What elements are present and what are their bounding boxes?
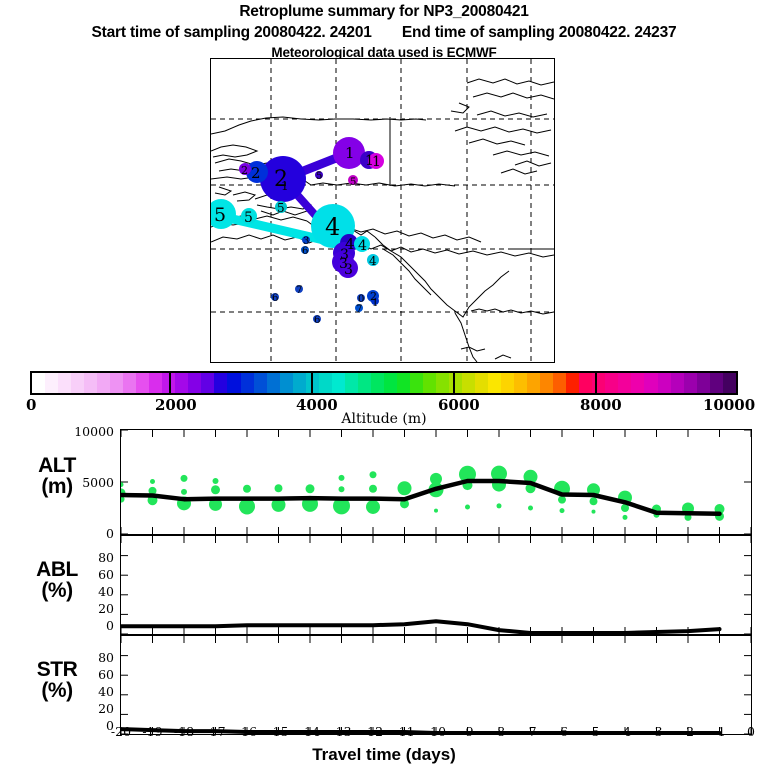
colorbar-swatch: [462, 373, 475, 393]
x-tick--14: -14: [293, 724, 327, 739]
end-time-label: End time of sampling 20080422. 24237: [402, 24, 677, 41]
x-tick--18: -18: [167, 724, 201, 739]
map-political-borders: [390, 117, 554, 249]
str-ytick-80: 80: [58, 650, 114, 665]
colorbar-swatch: [332, 373, 345, 393]
scatter-point: [528, 506, 533, 511]
colorbar-swatch: [384, 373, 397, 393]
x-tick--4: -4: [608, 724, 642, 739]
colorbar-swatch: [566, 373, 579, 393]
x-axis-title: Travel time (days): [0, 745, 768, 765]
svg-text:2: 2: [251, 164, 261, 182]
x-tick--13: -13: [325, 724, 359, 739]
colorbar-swatch: [58, 373, 71, 393]
colorbar-swatch: [410, 373, 423, 393]
x-tick--5: -5: [577, 724, 611, 739]
svg-text:6: 6: [302, 246, 308, 257]
svg-text:1: 1: [372, 154, 381, 170]
svg-text:1: 1: [345, 144, 355, 162]
colorbar-divider: [311, 371, 313, 395]
colorbar-swatch: [84, 373, 97, 393]
x-tick-marks: [121, 636, 751, 734]
page-title: Retroplume summary for NP3_20080421: [0, 3, 768, 21]
x-tick--2: -2: [671, 724, 705, 739]
colorbar-swatch: [188, 373, 201, 393]
colorbar-swatch: [579, 373, 592, 393]
colorbar-swatch: [71, 373, 84, 393]
svg-text:1: 1: [281, 179, 289, 193]
svg-text:4: 4: [325, 213, 340, 241]
scatter-point: [150, 479, 155, 484]
x-tick--1: -1: [703, 724, 737, 739]
altitude-colorbar[interactable]: [30, 371, 738, 395]
colorbar-swatch: [319, 373, 332, 393]
colorbar-swatch: [267, 373, 280, 393]
colorbar-swatch: [175, 373, 188, 393]
abl-ytick-60: 60: [58, 567, 114, 582]
colorbar-swatch: [45, 373, 58, 393]
svg-text:5: 5: [277, 201, 285, 215]
colorbar-swatch: [293, 373, 306, 393]
scatter-point: [370, 471, 377, 478]
scatter-point: [558, 496, 566, 504]
svg-text:5: 5: [244, 210, 253, 226]
colorbar-swatch: [254, 373, 267, 393]
str-panel[interactable]: [120, 635, 752, 735]
colorbar-axis-label: Altitude (m): [0, 411, 768, 427]
colorbar-swatch: [201, 373, 214, 393]
colorbar-swatch: [684, 373, 697, 393]
x-tick--12: -12: [356, 724, 390, 739]
y-tick-marks: [121, 656, 751, 734]
colorbar-swatch: [671, 373, 684, 393]
abl-panel[interactable]: [120, 535, 752, 635]
colorbar-swatch: [658, 373, 671, 393]
svg-text:6: 6: [272, 293, 278, 304]
colorbar-swatch: [605, 373, 618, 393]
colorbar-swatch: [136, 373, 149, 393]
svg-text:7: 7: [356, 304, 362, 315]
colorbar-swatch: [697, 373, 710, 393]
x-tick--17: -17: [199, 724, 233, 739]
x-tick-marks: [121, 536, 751, 634]
scatter-point: [434, 509, 438, 513]
scatter-point: [211, 485, 220, 494]
alt-panel[interactable]: [120, 429, 752, 535]
scatter-point: [398, 481, 412, 495]
scatter-point: [181, 475, 188, 482]
start-time-label: Start time of sampling 20080422. 24201: [92, 24, 372, 41]
x-tick-0: 0: [734, 724, 768, 739]
scatter-point: [369, 485, 377, 493]
abl-ytick-40: 40: [58, 584, 114, 599]
colorbar-swatch: [423, 373, 436, 393]
colorbar-swatch: [227, 373, 240, 393]
colorbar-swatch: [501, 373, 514, 393]
alt-ytick-0: 0: [58, 526, 114, 541]
colorbar-swatch: [345, 373, 358, 393]
colorbar-swatch: [553, 373, 566, 393]
colorbar-swatch: [540, 373, 553, 393]
abl-ytick-0: 0: [58, 618, 114, 633]
colorbar-swatch: [358, 373, 371, 393]
x-tick--20: -20: [104, 724, 138, 739]
x-tick--6: -6: [545, 724, 579, 739]
colorbar-swatch: [723, 373, 736, 393]
map-canvas: 1 1 1 2 2 2 1 5 5 5 4 4 4 3 3 3 4 3 6 7 …: [211, 59, 554, 362]
str-plot: [121, 636, 751, 734]
map-coastlines: [211, 79, 554, 362]
x-tick--3: -3: [640, 724, 674, 739]
colorbar-swatch: [449, 373, 462, 393]
svg-text:5: 5: [350, 177, 356, 188]
svg-text:7: 7: [296, 285, 302, 296]
alt-plot: [121, 430, 751, 534]
x-tick--8: -8: [482, 724, 516, 739]
scatter-point: [623, 515, 628, 520]
x-tick--15: -15: [262, 724, 296, 739]
colorbar-swatch: [149, 373, 162, 393]
colorbar-swatch: [371, 373, 384, 393]
colorbar-swatch: [488, 373, 501, 393]
scatter-point: [275, 484, 283, 492]
colorbar-divider: [453, 371, 455, 395]
colorbar-swatch: [527, 373, 540, 393]
colorbar-swatch: [32, 373, 45, 393]
colorbar-swatch: [110, 373, 123, 393]
colorbar-swatch: [618, 373, 631, 393]
abl-ytick-20: 20: [58, 601, 114, 616]
scatter-point: [560, 508, 565, 513]
x-axis-tick-labels: -20-19-18-17-16-15-14-13-12-11-10-9-8-7-…: [0, 724, 768, 742]
colorbar-divider: [169, 371, 171, 395]
abl-plot: [121, 536, 751, 634]
x-tick--10: -10: [419, 724, 453, 739]
colorbar-swatch: [214, 373, 227, 393]
svg-text:3: 3: [344, 262, 353, 278]
colorbar-swatch: [280, 373, 293, 393]
retroplume-map[interactable]: 1 1 1 2 2 2 1 5 5 5 4 4 4 3 3 3 4 3 6 7 …: [210, 58, 555, 363]
colorbar-swatch: [241, 373, 254, 393]
alt-ytick-10000: 10000: [58, 424, 114, 439]
colorbar-swatch: [475, 373, 488, 393]
scatter-point: [213, 478, 219, 484]
colorbar-swatch: [123, 373, 136, 393]
colorbar-gradient: [30, 371, 738, 395]
colorbar-swatch: [644, 373, 657, 393]
colorbar-swatch: [436, 373, 449, 393]
scatter-point: [339, 486, 345, 492]
scatter-point: [465, 504, 470, 509]
colorbar-swatch: [397, 373, 410, 393]
colorbar-divider: [595, 371, 597, 395]
svg-text:5: 5: [214, 204, 226, 226]
colorbar-swatch: [97, 373, 110, 393]
scatter-point: [590, 497, 598, 505]
svg-text:5: 5: [316, 171, 322, 182]
colorbar-swatch: [631, 373, 644, 393]
str-ytick-40: 40: [58, 684, 114, 699]
x-tick--19: -19: [136, 724, 170, 739]
sampling-time-line: Start time of sampling 20080422. 24201 E…: [0, 24, 768, 42]
abl-ytick-80: 80: [58, 550, 114, 565]
svg-text:6: 6: [314, 315, 320, 326]
scatter-point: [592, 510, 596, 514]
scatter-point: [366, 500, 380, 514]
x-tick--16: -16: [230, 724, 264, 739]
scatter-point: [181, 489, 187, 495]
scatter-point: [243, 485, 251, 493]
x-tick--11: -11: [388, 724, 422, 739]
svg-text:1: 1: [372, 298, 378, 309]
alt-axis-title-line1: ALT: [4, 455, 110, 476]
svg-text:4: 4: [358, 238, 367, 254]
scatter-point: [121, 482, 124, 487]
scatter-point: [339, 475, 345, 481]
str-ytick-60: 60: [58, 667, 114, 682]
x-tick--9: -9: [451, 724, 485, 739]
svg-text:4: 4: [369, 254, 377, 268]
scatter-point: [497, 503, 502, 508]
colorbar-swatch: [710, 373, 723, 393]
mean-line: [121, 621, 720, 633]
str-ytick-20: 20: [58, 701, 114, 716]
svg-text:2: 2: [241, 164, 248, 177]
map-graticule: [211, 59, 554, 362]
alt-ytick-5000: 5000: [58, 475, 114, 490]
x-tick--7: -7: [514, 724, 548, 739]
scatter-point: [306, 484, 315, 493]
colorbar-swatch: [514, 373, 527, 393]
